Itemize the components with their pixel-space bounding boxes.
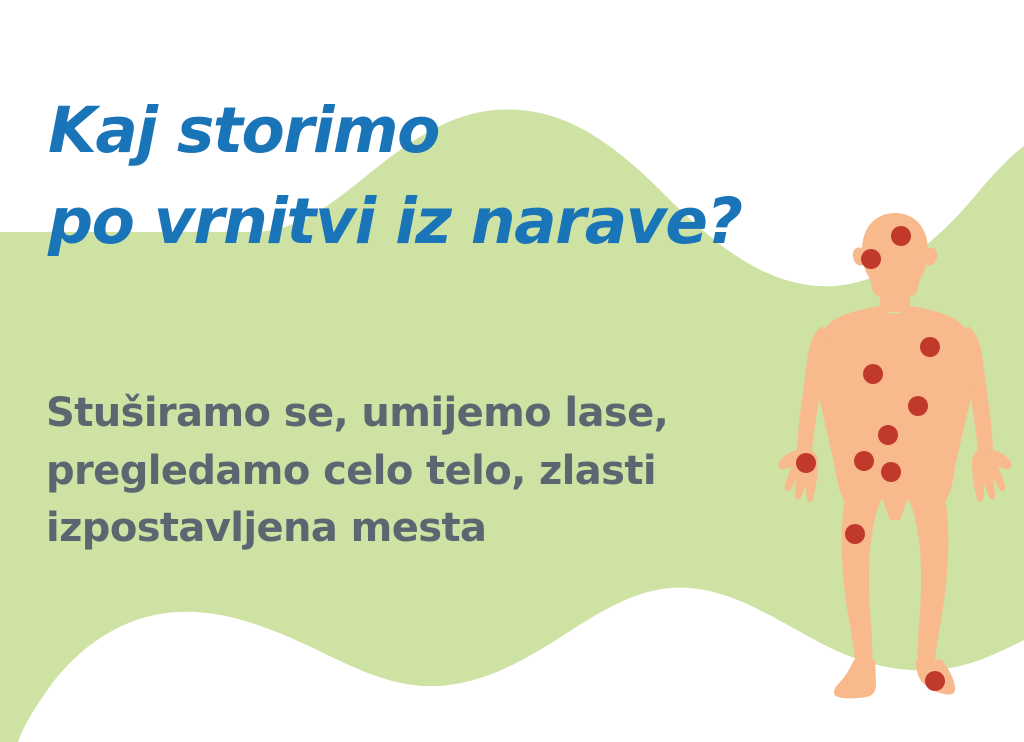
marker-waist-right [908, 396, 928, 416]
ear-right [927, 247, 937, 265]
marker-hand-left [796, 453, 816, 473]
poster-canvas: Kaj storimo po vrnitvi iz narave? Stušir… [0, 0, 1024, 742]
body-silhouette [779, 213, 1012, 698]
marker-navel [878, 425, 898, 445]
hand-right [972, 449, 1011, 502]
leg-right [908, 498, 948, 666]
marker-head-scalp [891, 226, 911, 246]
marker-knee-back-left [845, 524, 865, 544]
neck-shape [879, 292, 911, 312]
foot-left [834, 660, 876, 698]
marker-hip-left [854, 451, 874, 471]
pelvis-center [882, 498, 908, 520]
human-body-illustration [0, 0, 1024, 742]
marker-behind-ear-neck [861, 249, 881, 269]
marker-armpit-right [920, 337, 940, 357]
marker-foot-ankle [925, 671, 945, 691]
marker-ribs-left [863, 364, 883, 384]
marker-groin [881, 462, 901, 482]
leg-left [842, 498, 882, 666]
